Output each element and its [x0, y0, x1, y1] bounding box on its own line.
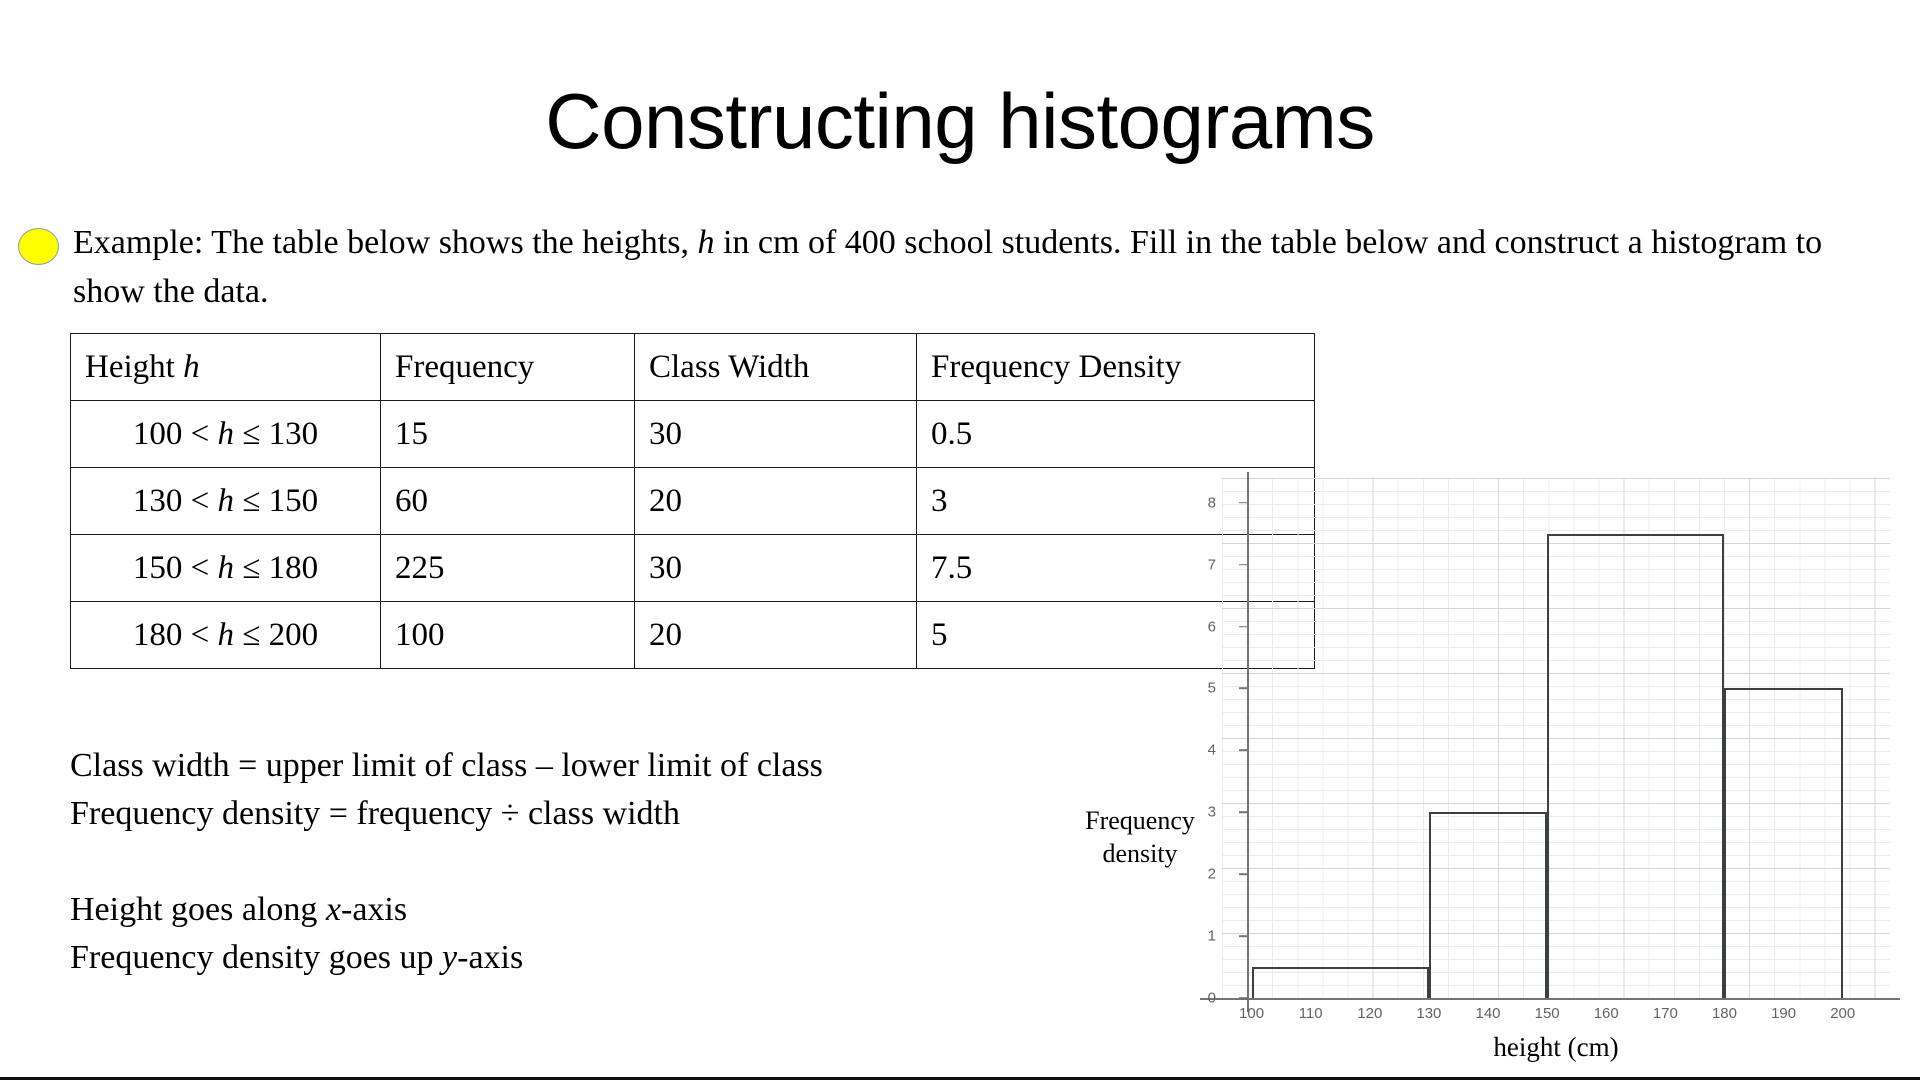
notes-block: Class width = upper limit of class – low…: [70, 742, 823, 982]
chart-y-tick-mark: [1239, 997, 1248, 999]
chart-y-tick-mark: [1239, 873, 1248, 875]
cell-frequency: 225: [381, 535, 635, 602]
example-paragraph: Example: The table below shows the heigh…: [73, 218, 1898, 316]
chart-x-tick-label: 140: [1458, 1005, 1518, 1022]
table-header-row: Height h Frequency Class Width Frequency…: [71, 334, 1315, 401]
chart-x-tick-label: 150: [1517, 1005, 1577, 1022]
chart-x-tick-label: 170: [1635, 1005, 1695, 1022]
header-height-var: h: [183, 349, 200, 385]
table-row: 180 < h ≤ 200 100 20 5: [71, 602, 1315, 669]
chart-y-tick-label: 3: [1176, 804, 1216, 821]
range-var: h: [218, 617, 235, 653]
note-class-width-rule: Class width = upper limit of class – low…: [70, 742, 823, 790]
example-block: Example: The table below shows the heigh…: [18, 218, 1898, 316]
header-height: Height h: [71, 334, 381, 401]
range-upper: ≤ 130: [234, 416, 318, 452]
chart-y-tick-label: 5: [1176, 680, 1216, 697]
chart-x-tick-label: 180: [1694, 1005, 1754, 1022]
bullet-circle-icon: [18, 228, 59, 265]
range-var: h: [218, 483, 235, 519]
cell-range: 150 < h ≤ 180: [71, 535, 381, 602]
note-y-axis-suffix: -axis: [457, 939, 523, 976]
chart-y-tick-mark: [1239, 626, 1248, 628]
chart-x-tick-label: 130: [1399, 1005, 1459, 1022]
range-lower: 180 <: [133, 617, 218, 653]
chart-y-tick-label: 4: [1176, 742, 1216, 759]
cell-frequency: 60: [381, 468, 635, 535]
chart-y-axis-line: [1247, 472, 1249, 1012]
chart-x-tick-label: 110: [1281, 1005, 1341, 1022]
chart-bar: [1429, 812, 1547, 998]
note-x-axis-suffix: -axis: [341, 891, 407, 928]
example-variable-h: h: [697, 224, 714, 261]
note-x-axis-var: x: [326, 891, 341, 928]
note-y-axis-var: y: [442, 939, 457, 976]
histogram-chart: 012345678 100110120130140150160170180190…: [1222, 478, 1890, 998]
chart-x-tick-label: 200: [1813, 1005, 1873, 1022]
table-row: 130 < h ≤ 150 60 20 3: [71, 468, 1315, 535]
chart-y-tick-label: 8: [1176, 494, 1216, 511]
range-lower: 100 <: [133, 416, 218, 452]
cell-frequency-density: 0.5: [917, 401, 1315, 468]
cell-frequency: 100: [381, 602, 635, 669]
chart-y-tick-mark: [1239, 688, 1248, 690]
chart-x-tick-label: 190: [1754, 1005, 1814, 1022]
note-x-axis: Height goes along x-axis: [70, 886, 823, 934]
range-upper: ≤ 180: [234, 550, 318, 586]
chart-bar: [1724, 688, 1842, 998]
note-frequency-density-rule: Frequency density = frequency ÷ class wi…: [70, 790, 823, 838]
range-upper: ≤ 150: [234, 483, 318, 519]
chart-y-tick-mark: [1239, 935, 1248, 937]
chart-y-tick-mark: [1239, 502, 1248, 504]
header-class-width: Class Width: [635, 334, 917, 401]
chart-y-tick-label: 6: [1176, 618, 1216, 635]
chart-y-tick-label: 0: [1176, 990, 1216, 1007]
chart-bar: [1547, 534, 1724, 998]
chart-x-axis-title: height (cm): [1222, 1032, 1890, 1063]
notes-spacer: [70, 838, 823, 886]
cell-class-width: 30: [635, 401, 917, 468]
table-row: 150 < h ≤ 180 225 30 7.5: [71, 535, 1315, 602]
cell-class-width: 30: [635, 535, 917, 602]
header-height-text: Height: [85, 349, 183, 385]
frequency-table: Height h Frequency Class Width Frequency…: [70, 333, 1315, 669]
page-title: Constructing histograms: [0, 78, 1920, 164]
header-frequency-density: Frequency Density: [917, 334, 1315, 401]
chart-x-tick-label: 120: [1340, 1005, 1400, 1022]
cell-class-width: 20: [635, 468, 917, 535]
chart-y-tick-mark: [1239, 811, 1248, 813]
chart-y-tick-label: 7: [1176, 556, 1216, 573]
chart-y-tick-mark: [1239, 564, 1248, 566]
chart-bar: [1252, 967, 1429, 998]
range-var: h: [218, 550, 235, 586]
range-var: h: [218, 416, 235, 452]
cell-class-width: 20: [635, 602, 917, 669]
chart-y-tick-label: 1: [1176, 928, 1216, 945]
cell-range: 180 < h ≤ 200: [71, 602, 381, 669]
cell-frequency: 15: [381, 401, 635, 468]
note-y-axis: Frequency density goes up y-axis: [70, 934, 823, 982]
chart-x-tick-label: 160: [1576, 1005, 1636, 1022]
range-upper: ≤ 200: [234, 617, 318, 653]
header-frequency: Frequency: [381, 334, 635, 401]
cell-range: 130 < h ≤ 150: [71, 468, 381, 535]
example-text-prefix: Example: The table below shows the heigh…: [73, 224, 697, 261]
chart-y-tick-mark: [1239, 750, 1248, 752]
note-y-axis-prefix: Frequency density goes up: [70, 939, 442, 976]
table-row: 100 < h ≤ 130 15 30 0.5: [71, 401, 1315, 468]
range-lower: 130 <: [133, 483, 218, 519]
chart-x-axis-line: [1200, 998, 1900, 1000]
chart-y-tick-label: 2: [1176, 866, 1216, 883]
range-lower: 150 <: [133, 550, 218, 586]
cell-range: 100 < h ≤ 130: [71, 401, 381, 468]
chart-x-tick-label: 100: [1222, 1005, 1282, 1022]
note-x-axis-prefix: Height goes along: [70, 891, 326, 928]
